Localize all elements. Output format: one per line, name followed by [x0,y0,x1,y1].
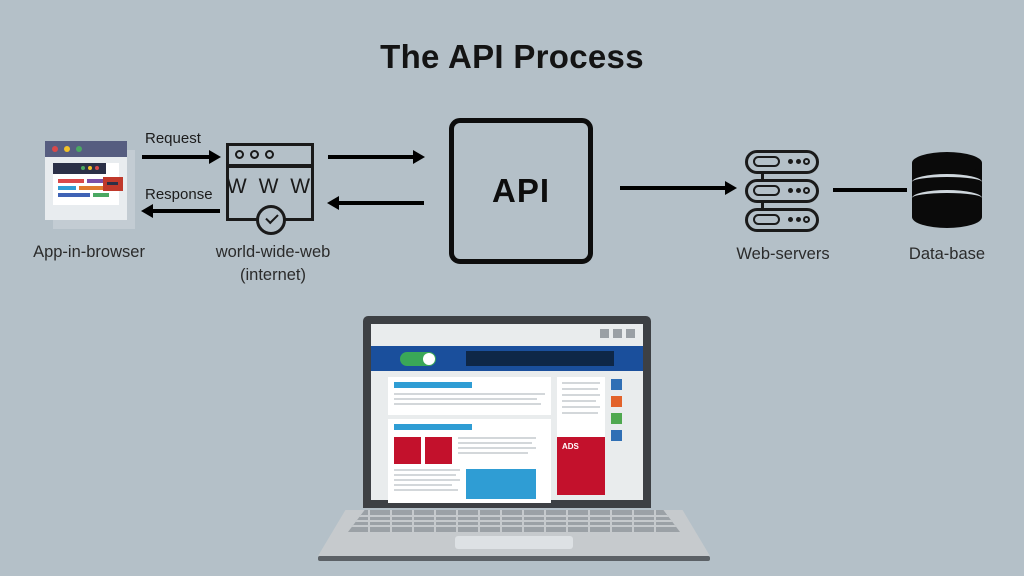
server-slot-icon [753,185,780,196]
server-led-icon [788,159,793,164]
text-line [394,398,537,400]
nav-toggle-switch[interactable] [400,352,436,366]
laptop-trackpad[interactable] [455,536,573,549]
text-line [394,474,456,476]
connector-api-to-servers-arrow [620,186,726,190]
label-world-wide-web: world-wide-web [180,242,366,263]
www-browser-icon: W W W [226,143,318,225]
label-data-base: Data-base [866,244,1024,265]
key-col [368,510,370,532]
content-bar [58,186,76,190]
page-title: The API Process [0,38,1024,76]
toggle-knob [423,353,435,365]
thumbnail-block [394,437,421,464]
browser-close-dot-icon [52,146,58,152]
laptop-screen: ADS [371,324,643,500]
text-block [394,469,460,494]
article-heading [394,424,472,430]
thumbnail-block [425,437,452,464]
server-stack-icon [745,150,821,232]
database-cylinder-icon [912,152,982,228]
server-led-icon [796,188,801,193]
key-col [412,510,414,532]
api-label: API [492,172,550,210]
server-slot-icon [753,214,780,225]
laptop-illustration: ADS [318,316,710,568]
key-col [566,510,568,532]
content-bar [58,193,90,197]
card-dot-green-icon [81,166,85,170]
sidebar-square-icon [611,396,622,407]
card-dot-yellow-icon [88,166,92,170]
www-dot-icon [235,150,244,159]
server-led-ring-icon [803,216,810,223]
key-col [456,510,458,532]
sidebar-text-line [562,400,596,402]
page-navbar [371,346,643,371]
image-block [466,469,536,499]
text-line [458,452,528,454]
browser-window-icon [45,141,135,229]
key-col [478,510,480,532]
diagram-canvas: The API Process App-in-browser Request R… [0,0,1024,576]
db-ring [912,190,982,206]
server-led-icon [788,217,793,222]
sidebar-text-line [562,406,600,408]
db-top-disc [912,152,982,174]
content-thumbnail-bar [107,182,118,185]
sidebar-text-line [562,388,598,390]
sidebar-square-icon [611,379,622,390]
text-line [458,447,536,449]
key-col [588,510,590,532]
laptop-front-edge [318,556,710,561]
text-line [394,484,452,486]
nav-search-field[interactable] [466,351,614,366]
sidebar-square-icon [611,430,622,441]
sidebar-text-line [562,412,598,414]
article-card [388,419,551,503]
server-led-ring-icon [803,187,810,194]
key-row [348,520,680,522]
label-web-servers: Web-servers [700,244,866,265]
server-led-icon [796,217,801,222]
api-box: API [449,118,593,264]
key-col [610,510,612,532]
browser-maximize-dot-icon [76,146,82,152]
page-content: ADS [371,375,643,500]
connector-label-request: Request [145,130,201,147]
article-heading [394,382,472,388]
db-ring [912,174,982,190]
text-block [458,437,536,457]
server-led-icon [788,188,793,193]
key-col [544,510,546,532]
text-line [458,442,532,444]
sidebar-text-line [562,382,600,384]
www-titlebar-divider [226,164,314,168]
key-col [522,510,524,532]
connector-www-to-api-arrow [328,155,414,159]
ads-banner[interactable]: ADS [557,437,605,495]
text-line [394,403,541,405]
window-dot-icon [626,329,635,338]
key-col [500,510,502,532]
connector-label-response: Response [145,186,213,203]
text-line [394,479,460,481]
server-slot-icon [753,156,780,167]
www-dot-icon [250,150,259,159]
connector-servers-to-database-line [833,188,907,192]
connector-response-arrow [152,209,220,213]
card-dot-red-icon [95,166,99,170]
text-line [394,469,460,471]
window-dot-icon [613,329,622,338]
connector-request-arrow [142,155,210,159]
www-dot-icon [265,150,274,159]
check-circle-icon [256,205,286,235]
server-connector [761,174,764,180]
text-line [394,489,458,491]
text-line [458,437,536,439]
article-card [388,377,551,415]
content-main-column [388,377,551,503]
server-connector [761,203,764,209]
text-line [394,393,545,395]
window-controls [600,329,635,338]
sidebar-text-line [562,394,600,396]
content-bar [58,179,84,183]
key-col [632,510,634,532]
content-bar [93,193,109,197]
connector-api-to-www-arrow [338,201,424,205]
key-col [434,510,436,532]
sidebar-square-icon [611,413,622,424]
window-dot-icon [600,329,609,338]
label-app-in-browser: App-in-browser [0,242,178,263]
server-led-ring-icon [803,158,810,165]
ads-label: ADS [562,442,579,451]
key-col [390,510,392,532]
key-row [348,515,680,517]
key-row [348,525,680,527]
label-world-wide-web-sub: (internet) [180,265,366,286]
www-text: W W W [226,175,314,199]
sidebar-icon-list [611,379,629,447]
laptop-base [318,502,710,562]
server-led-icon [796,159,801,164]
laptop-keyboard [348,510,680,532]
browser-minimize-dot-icon [64,146,70,152]
key-col [654,510,656,532]
